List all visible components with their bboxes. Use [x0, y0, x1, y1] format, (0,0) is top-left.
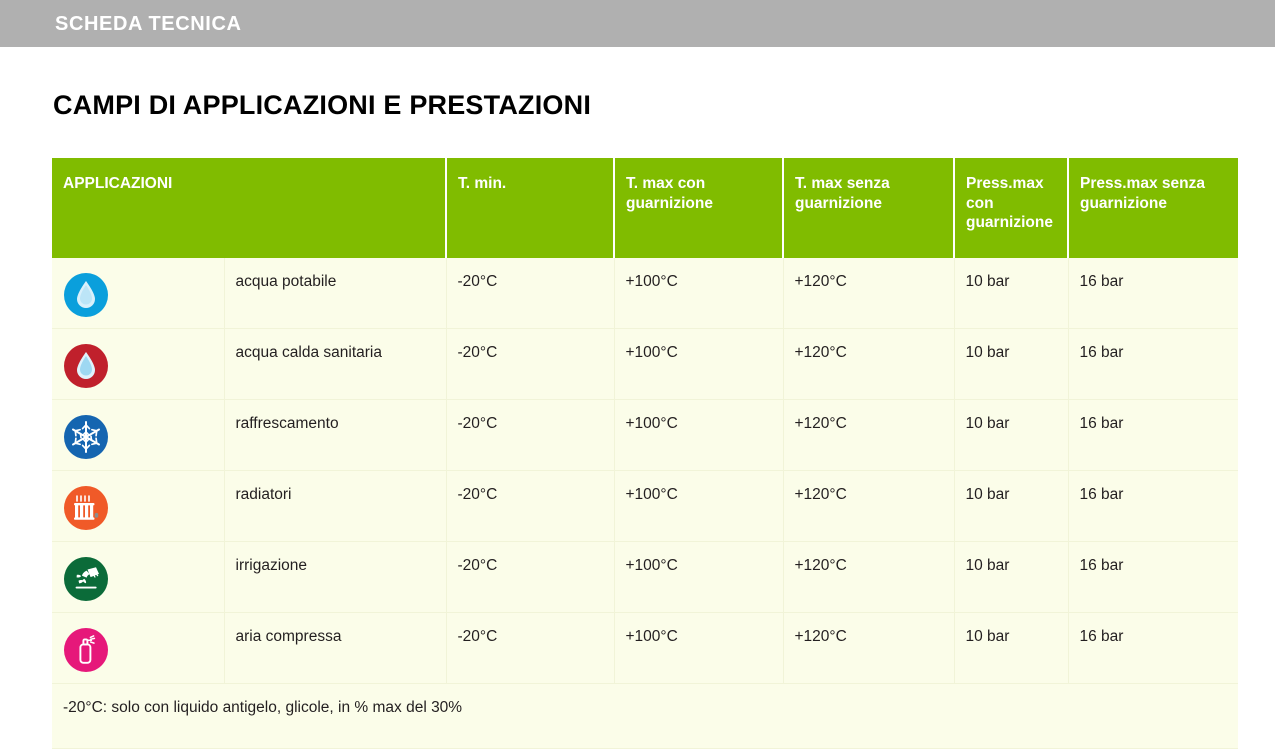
specifications-table-wrapper: APPLICAZIONI T. min. T. max con guarnizi… — [52, 158, 1238, 749]
column-header-t-min: T. min. — [446, 158, 614, 258]
cell-t-min: -20°C — [446, 613, 614, 684]
application-name: radiatori — [224, 471, 446, 542]
table-row: irrigazione -20°C +100°C +120°C 10 bar 1… — [52, 542, 1238, 613]
table-row: aria compressa -20°C +100°C +120°C 10 ba… — [52, 613, 1238, 684]
cell-press-max-senza: 16 bar — [1068, 400, 1238, 471]
application-icon-cell — [52, 542, 224, 613]
snowflake-icon — [63, 414, 109, 460]
table-row: raffrescamento -20°C +100°C +120°C 10 ba… — [52, 400, 1238, 471]
cell-t-min: -20°C — [446, 542, 614, 613]
application-icon-cell — [52, 613, 224, 684]
cell-press-max-senza: 16 bar — [1068, 613, 1238, 684]
application-icon-cell — [52, 258, 224, 329]
table-row: acqua calda sanitaria -20°C +100°C +120°… — [52, 329, 1238, 400]
cell-t-min: -20°C — [446, 258, 614, 329]
cell-t-max-senza: +120°C — [783, 471, 954, 542]
applications-specifications-table: APPLICAZIONI T. min. T. max con guarnizi… — [52, 158, 1238, 749]
scheda-tecnica-label: SCHEDA TECNICA — [55, 13, 242, 36]
cell-press-max-senza: 16 bar — [1068, 258, 1238, 329]
cell-t-max-con: +100°C — [614, 258, 783, 329]
application-icon-cell — [52, 471, 224, 542]
cell-press-max-con: 10 bar — [954, 400, 1068, 471]
page-title: CAMPI DI APPLICAZIONI E PRESTAZIONI — [53, 90, 591, 121]
application-name: irrigazione — [224, 542, 446, 613]
application-name: aria compressa — [224, 613, 446, 684]
cell-press-max-senza: 16 bar — [1068, 329, 1238, 400]
application-name: acqua calda sanitaria — [224, 329, 446, 400]
cell-press-max-con: 10 bar — [954, 329, 1068, 400]
cell-t-max-senza: +120°C — [783, 542, 954, 613]
cell-t-max-senza: +120°C — [783, 329, 954, 400]
cell-press-max-senza: 16 bar — [1068, 542, 1238, 613]
column-header-press-max-senza-guarnizione: Press.max senza guarnizione — [1068, 158, 1238, 258]
cell-press-max-con: 10 bar — [954, 542, 1068, 613]
cell-press-max-con: 10 bar — [954, 471, 1068, 542]
table-header-row: APPLICAZIONI T. min. T. max con guarnizi… — [52, 158, 1238, 258]
application-name: raffrescamento — [224, 400, 446, 471]
table-body: acqua potabile -20°C +100°C +120°C 10 ba… — [52, 258, 1238, 749]
hot-water-drop-icon — [63, 343, 109, 389]
cell-t-max-con: +100°C — [614, 542, 783, 613]
cell-t-max-senza: +120°C — [783, 258, 954, 329]
scheda-tecnica-header-bar: SCHEDA TECNICA — [0, 0, 1275, 47]
cell-press-max-senza: 16 bar — [1068, 471, 1238, 542]
column-header-t-max-senza-guarnizione: T. max senza guarnizione — [783, 158, 954, 258]
footnote-text: -20°C: solo con liquido antigelo, glicol… — [52, 684, 1238, 749]
application-icon-cell — [52, 400, 224, 471]
compressed-air-cylinder-icon — [63, 627, 109, 673]
application-name: acqua potabile — [224, 258, 446, 329]
watering-can-icon — [63, 556, 109, 602]
cell-t-min: -20°C — [446, 329, 614, 400]
cell-t-max-con: +100°C — [614, 400, 783, 471]
cell-t-max-senza: +120°C — [783, 400, 954, 471]
water-drop-icon — [63, 272, 109, 318]
cell-t-min: -20°C — [446, 471, 614, 542]
cell-t-max-senza: +120°C — [783, 613, 954, 684]
cell-t-max-con: +100°C — [614, 613, 783, 684]
cell-press-max-con: 10 bar — [954, 258, 1068, 329]
cell-t-min: -20°C — [446, 400, 614, 471]
table-footnote-row: -20°C: solo con liquido antigelo, glicol… — [52, 684, 1238, 749]
column-header-press-max-con-guarnizione: Press.max con guarnizione — [954, 158, 1068, 258]
cell-press-max-con: 10 bar — [954, 613, 1068, 684]
table-row: radiatori -20°C +100°C +120°C 10 bar 16 … — [52, 471, 1238, 542]
column-header-t-max-con-guarnizione: T. max con guarnizione — [614, 158, 783, 258]
application-icon-cell — [52, 329, 224, 400]
column-header-applicazioni: APPLICAZIONI — [52, 158, 446, 258]
cell-t-max-con: +100°C — [614, 471, 783, 542]
table-row: acqua potabile -20°C +100°C +120°C 10 ba… — [52, 258, 1238, 329]
radiator-icon — [63, 485, 109, 531]
cell-t-max-con: +100°C — [614, 329, 783, 400]
